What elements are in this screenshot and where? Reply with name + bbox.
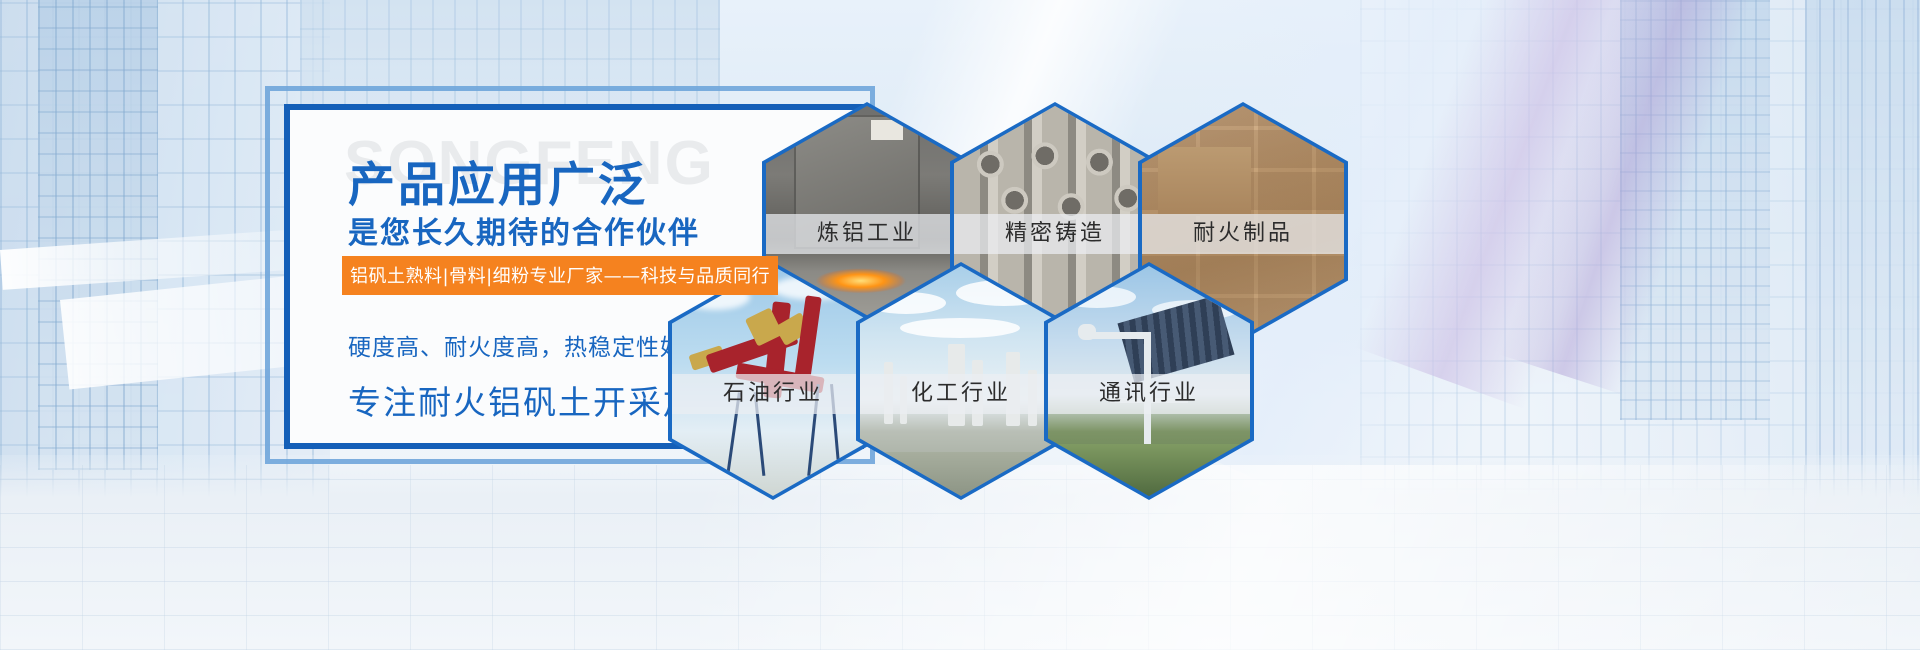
tagline-band: 铝矾土熟料|骨料|细粉专业厂家——科技与品质同行 <box>342 256 778 295</box>
hexagon-label-aluminium-smelting: 炼铝工业 <box>766 214 968 254</box>
hexagon-grid: 炼铝工业 精密铸造 耐火制品 <box>0 0 1920 650</box>
hexagon-label-oil-industry: 石油行业 <box>672 374 874 414</box>
banner-stage: SONGFENG 产品应用广泛 是您长久期待的合作伙伴 硬度高、耐火度高，热稳定… <box>0 0 1920 650</box>
hexagon-label-chemical-industry: 化工行业 <box>860 374 1062 414</box>
hexagon-label-refractory-products: 耐火制品 <box>1142 214 1344 254</box>
hexagon-label-precision-casting: 精密铸造 <box>954 214 1156 254</box>
hexagon-label-telecom-industry: 通讯行业 <box>1048 374 1250 414</box>
